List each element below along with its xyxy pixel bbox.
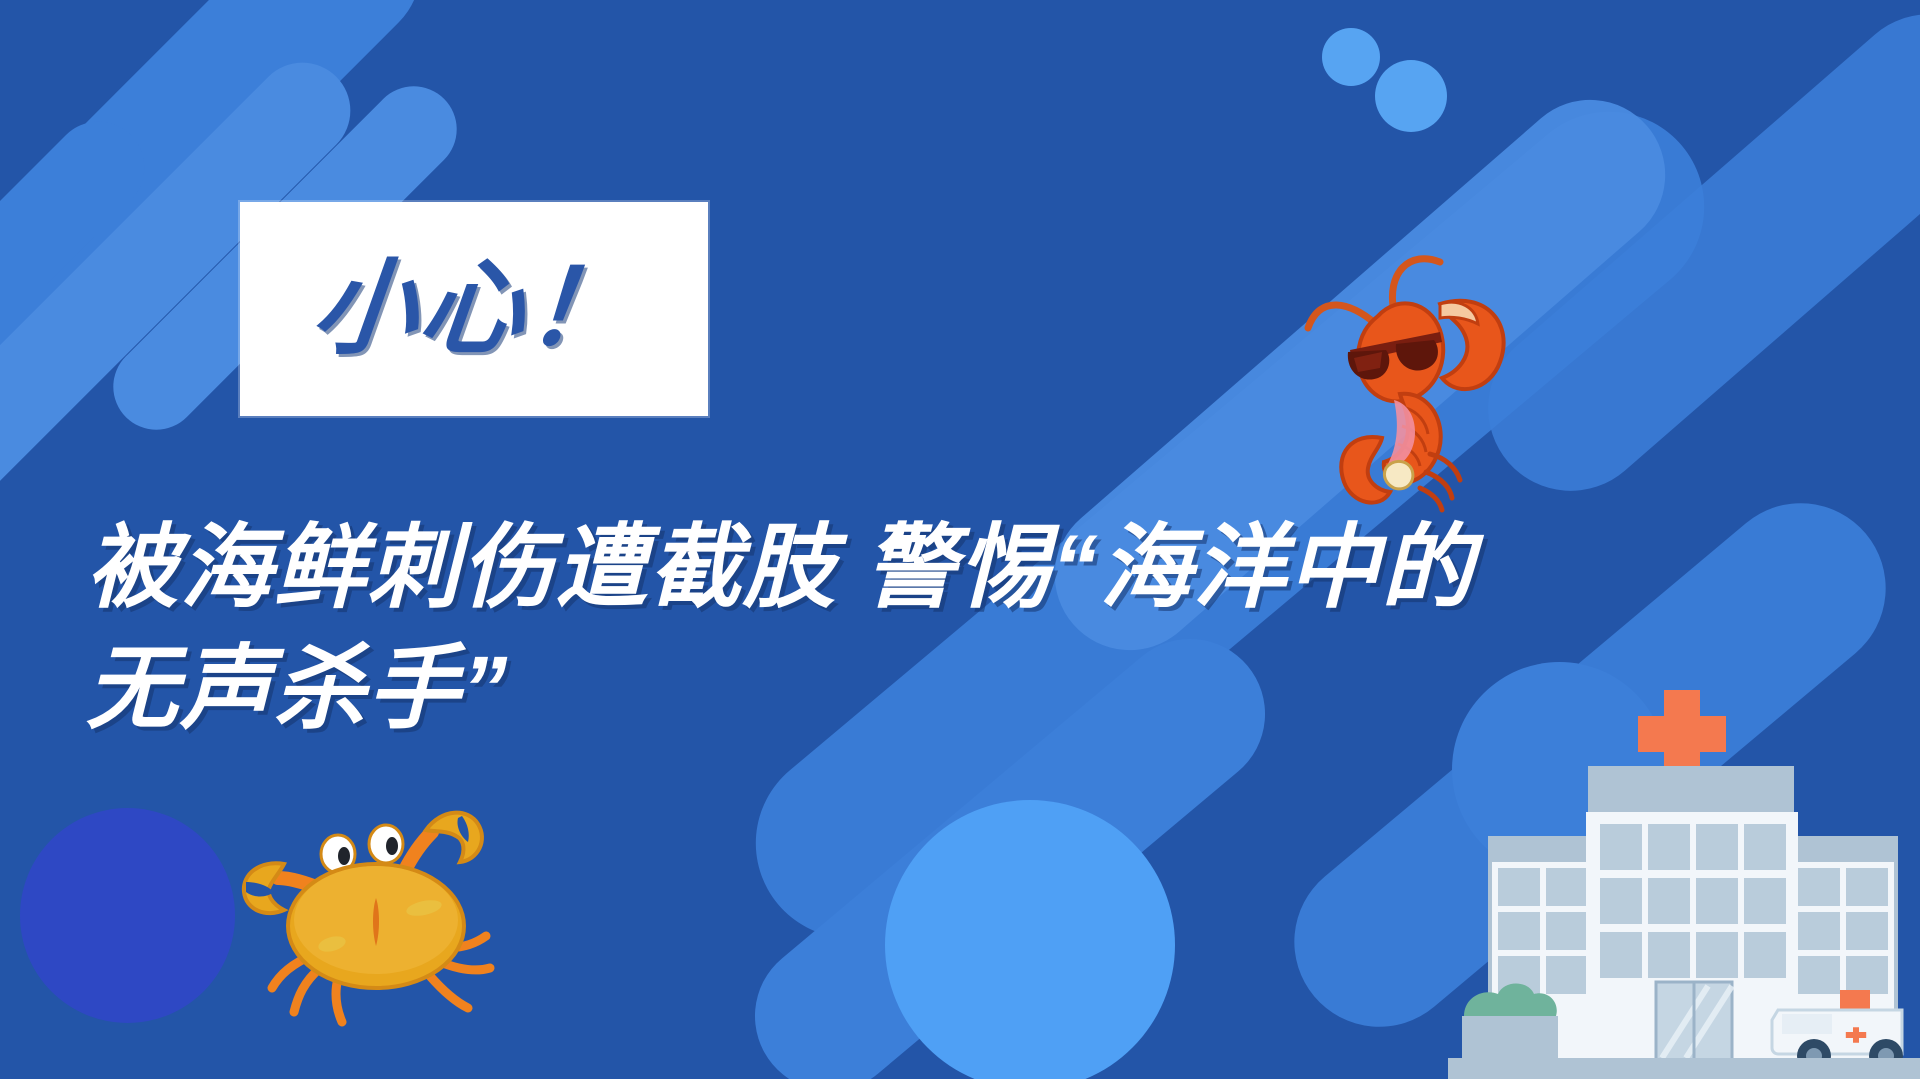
background-circle-bottom-center bbox=[885, 800, 1175, 1079]
headline-line-2: 无声杀手” bbox=[86, 629, 1806, 750]
bush-icon bbox=[1462, 984, 1558, 1061]
caution-callout-text: 小心！ bbox=[308, 257, 640, 361]
crab-illustration bbox=[228, 786, 508, 1036]
bubble-circle-small-icon bbox=[1322, 28, 1380, 86]
background-circle-bottom-left bbox=[20, 808, 235, 1023]
headline-line-1: 被海鲜刺伤遭截肢 警惕“海洋中的 bbox=[86, 508, 1806, 629]
caution-callout-box: 小心！ bbox=[240, 202, 708, 416]
crawfish-illustration bbox=[1290, 232, 1520, 522]
poster-headline: 被海鲜刺伤遭截肢 警惕“海洋中的 无声杀手” bbox=[86, 508, 1806, 751]
poster-canvas: 小心！ 被海鲜刺伤遭截肢 警惕“海洋中的 无声杀手” bbox=[0, 0, 1920, 1079]
bubble-circle-large-icon bbox=[1375, 60, 1447, 132]
